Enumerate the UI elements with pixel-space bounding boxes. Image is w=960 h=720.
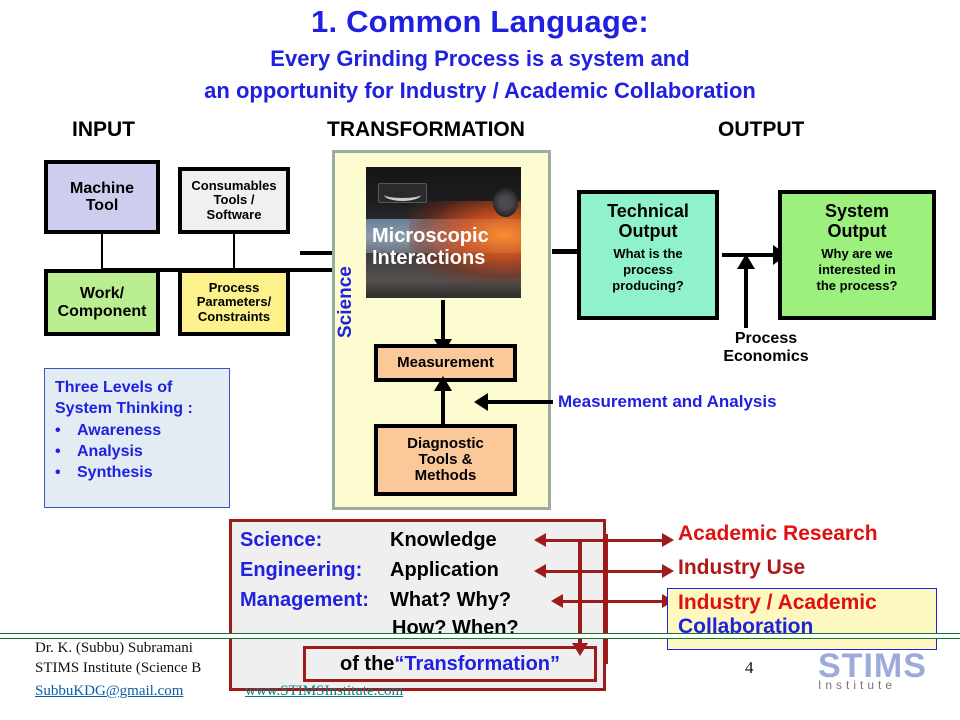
three-levels-item-label: Synthesis [77,462,153,483]
definition-value: What? Why? [390,589,511,611]
page-subtitle-line1: Every Grinding Process is a system and [0,46,960,72]
system-output-title-line2: Output [828,222,887,242]
box-system-output: System Output Why are we interested in t… [778,190,936,320]
box-technical-output: Technical Output What is the process pro… [577,190,719,320]
photo-caption-line1: Microscopic [372,225,521,247]
technical-output-title-line2: Output [619,222,678,242]
process-economics-line1: Process [706,330,826,348]
science-label: Science [335,266,357,338]
three-levels-heading-line2: System Thinking : [55,398,229,419]
box-diagnostic-line2: Tools & [419,452,473,468]
box-consumables-line2: Tools / [214,193,255,207]
three-levels-item-awareness: • Awareness [55,420,229,441]
connector-line-consumables [233,234,235,270]
label-measurement-and-analysis: Measurement and Analysis [558,392,777,412]
red-arrow-right-academic-research-icon [608,539,663,542]
definition-value: Application [390,559,499,581]
system-output-sub-line3: the process? [817,278,898,294]
arrow-process-economics-icon [744,268,748,328]
process-economics-line2: Economics [706,348,826,366]
collaboration-line1: Industry / Academic [678,591,936,615]
photo-caption-line2: Interactions [372,247,521,269]
footer-author-name: Dr. K. (Subbu) Subramani [35,640,193,657]
technical-output-sub-line2: process [623,262,673,278]
box-measurement-label: Measurement [397,355,494,371]
footer-organization: STIMS Institute (Science B [35,660,201,677]
box-of-the-transformation: of the “Transformation” [303,646,597,682]
footer-email-link[interactable]: SubbuKDG@gmail.com [35,683,183,700]
label-process-economics: Process Economics [706,330,826,366]
box-machine-tool-line2: Tool [86,197,119,214]
definition-row-science: Science:Knowledge [240,529,497,552]
grinding-process-photo: Microscopic Interactions [366,167,521,298]
three-levels-heading-line1: Three Levels of [55,377,229,398]
technical-output-sub-line1: What is the [613,246,682,262]
photo-caption: Microscopic Interactions [372,225,521,270]
technical-output-title-line1: Technical [607,202,689,222]
red-arrow-right-industry-use-icon [608,570,663,573]
photo-wheel-detail [378,183,427,203]
definition-value: Knowledge [390,529,497,551]
arrow-transformation-to-technical-output-icon [552,249,580,254]
page-subtitle-line2: an opportunity for Industry / Academic C… [0,78,960,104]
header-label-transformation: TRANSFORMATION [327,118,525,142]
three-levels-item-label: Awareness [77,420,161,441]
stims-institute-logo: STIMS Institute [818,650,948,710]
label-industry-use: Industry Use [678,556,805,580]
box-work-component-line2: Component [58,303,147,320]
transformation-tag-prefix: of the [340,653,394,676]
bullet-icon: • [55,420,77,441]
definition-row-engineering: Engineering:Application [240,559,499,582]
header-label-input: INPUT [72,118,135,142]
box-process-params-line2: Parameters/ [197,295,271,309]
footer-divider [0,633,960,639]
box-machine-tool: Machine Tool [44,160,160,234]
box-consumables-line3: Software [207,208,262,222]
logo-mark-text: STIMS [818,650,948,682]
box-consumables-tools-software: Consumables Tools / Software [178,167,290,234]
box-consumables-line1: Consumables [191,179,276,193]
box-diagnostic-tools-methods: Diagnostic Tools & Methods [374,424,517,496]
definition-key: Management: [240,589,390,612]
footer-website-link[interactable]: www.STIMSInstitute.com [245,683,403,700]
box-process-parameters-constraints: Process Parameters/ Constraints [178,269,290,336]
photo-disc-detail [493,188,518,217]
label-academic-research: Academic Research [678,522,878,546]
red-connector-down-arrow-icon [578,540,582,644]
system-output-sub-line2: interested in [818,262,895,278]
three-levels-item-synthesis: • Synthesis [55,462,229,483]
box-process-params-line3: Constraints [198,310,270,324]
bullet-icon: • [55,462,77,483]
box-three-levels-system-thinking: Three Levels of System Thinking : • Awar… [44,368,230,508]
definition-key: Science: [240,529,390,552]
bullet-icon: • [55,441,77,462]
red-connector-vertical-bus [604,534,608,664]
box-work-component-line1: Work/ [80,285,124,302]
box-work-component: Work/ Component [44,269,160,336]
definition-key: Engineering: [240,559,390,582]
red-arrow-right-collaboration-icon [608,600,663,603]
page-number: 4 [745,658,754,678]
transformation-tag-quoted: “Transformation” [394,653,560,676]
arrow-analysis-into-measurement-icon [487,400,553,404]
three-levels-item-label: Analysis [77,441,143,462]
definition-row-management: Management:What? Why? [240,589,511,612]
connector-line-machine-tool [101,234,103,270]
box-diagnostic-line1: Diagnostic [407,436,484,452]
page-title: 1. Common Language: [0,4,960,40]
system-output-title-line1: System [825,202,889,222]
box-diagnostic-line3: Methods [415,468,477,484]
system-output-sub-line1: Why are we [821,246,893,262]
connector-bus-inputs [101,268,343,272]
box-process-params-line1: Process [209,281,260,295]
arrow-diagnostic-to-measurement-icon [441,390,445,426]
technical-output-sub-line3: producing? [612,278,684,294]
three-levels-item-analysis: • Analysis [55,441,229,462]
arrow-photo-to-measurement-icon [441,300,445,340]
header-label-output: OUTPUT [718,118,804,142]
box-machine-tool-line1: Machine [70,180,134,197]
box-industry-academic-collaboration: Industry / Academic Collaboration [667,588,937,650]
